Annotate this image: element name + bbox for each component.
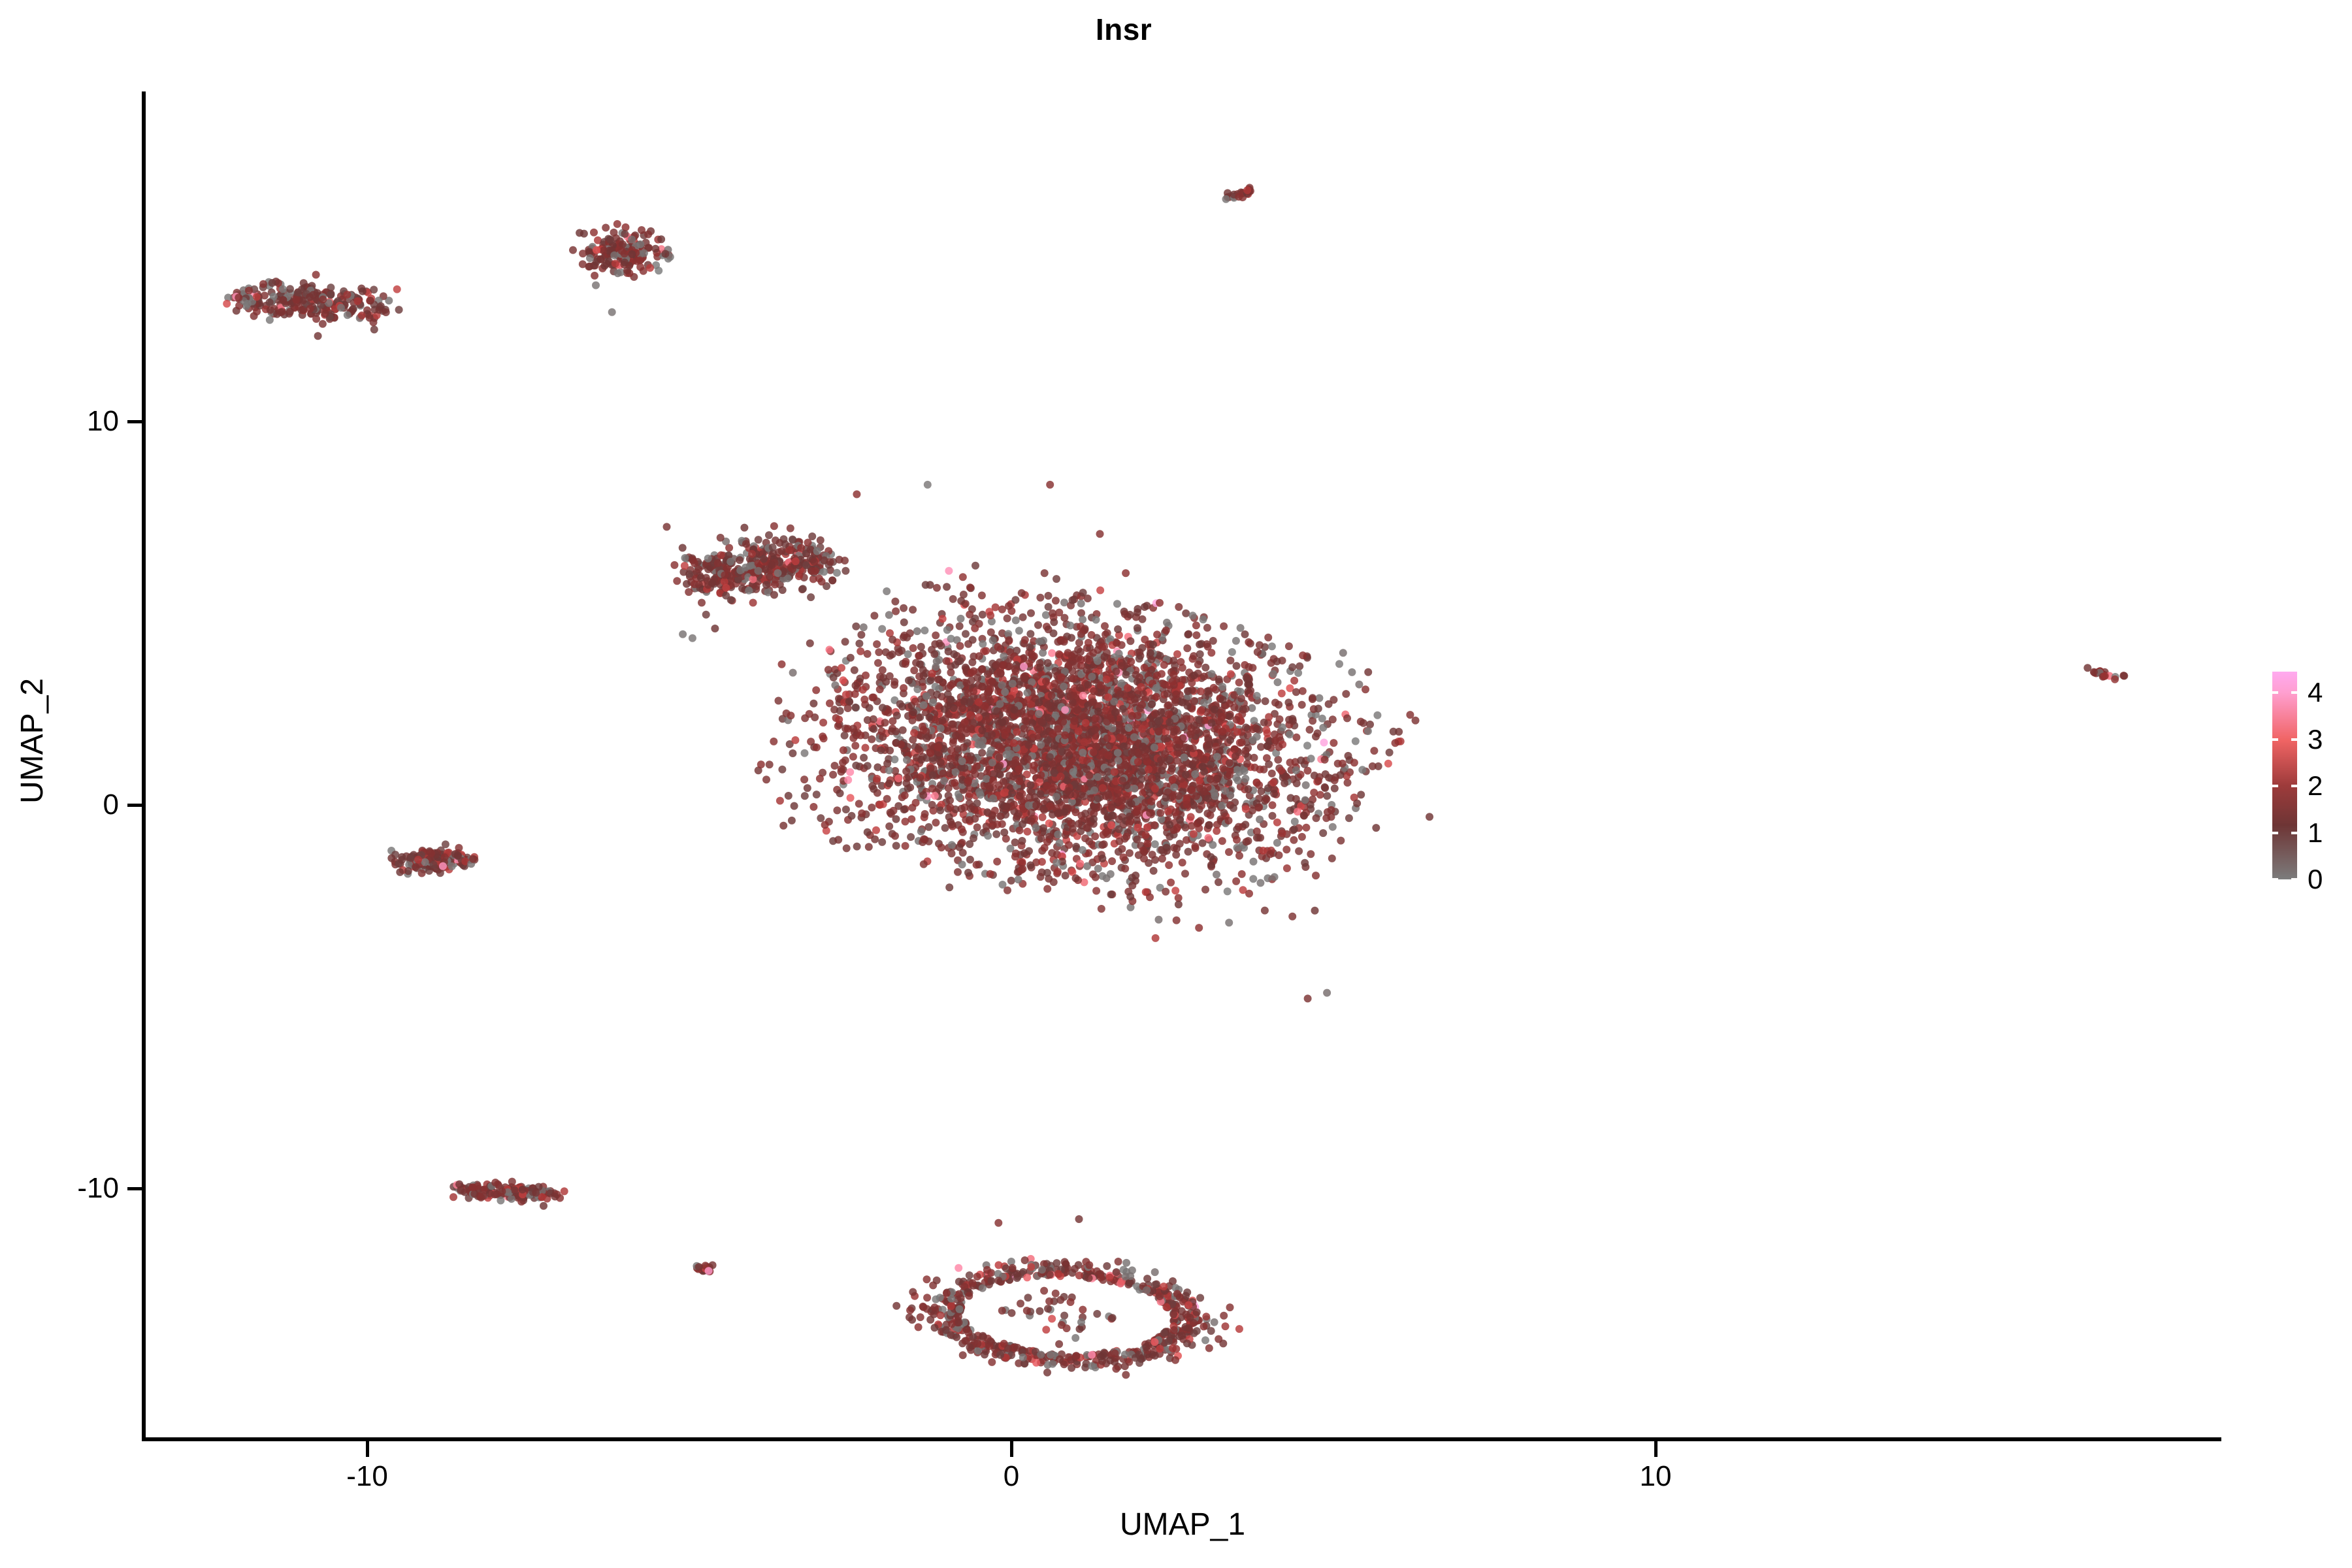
colorbar-tick-mark — [2291, 878, 2297, 881]
page-title: Insr — [0, 14, 2247, 44]
colorbar-label: 1 — [2308, 819, 2323, 847]
x-tick-label: 0 — [1004, 1462, 1019, 1491]
colorbar-tick-mark — [2291, 785, 2297, 787]
colorbar-tick-mark — [2272, 832, 2278, 834]
x-tick-mark — [1654, 1441, 1658, 1457]
colorbar-tick-mark — [2272, 738, 2278, 741]
y-tick-mark — [127, 804, 142, 807]
x-axis-spine — [144, 1437, 2221, 1441]
colorbar-label: 4 — [2308, 679, 2323, 706]
colorbar-tick-mark — [2291, 832, 2297, 834]
x-tick-label: -10 — [346, 1462, 388, 1491]
plot-panel — [144, 91, 2221, 1439]
y-tick-label: -10 — [77, 1174, 119, 1203]
colorbar-tick-mark — [2272, 691, 2278, 694]
colorbar-tick-mark — [2272, 878, 2278, 881]
colorbar-label: 2 — [2308, 772, 2323, 800]
x-tick-label: 10 — [1640, 1462, 1672, 1491]
colorbar-tick-mark — [2272, 785, 2278, 787]
x-tick-mark — [1010, 1441, 1013, 1457]
colorbar-label: 3 — [2308, 726, 2323, 753]
y-axis-spine — [142, 91, 146, 1441]
umap-feature-plot: Insr 100-10 -10010 UMAP_1 UMAP_2 43210 — [0, 0, 2352, 1568]
scatter-points-layer — [144, 91, 2221, 1439]
colorbar-tick-mark — [2291, 738, 2297, 741]
x-axis-title: UMAP_1 — [144, 1509, 2221, 1541]
y-axis-title: UMAP_2 — [17, 414, 48, 1068]
colorbar-tick-mark — [2291, 691, 2297, 694]
y-tick-label: 10 — [87, 407, 119, 436]
y-tick-mark — [127, 1187, 142, 1190]
x-tick-mark — [366, 1441, 369, 1457]
color-legend: 43210 — [2272, 672, 2344, 881]
colorbar-gradient — [2272, 672, 2297, 879]
y-tick-mark — [127, 420, 142, 423]
y-tick-label: 0 — [103, 791, 119, 819]
colorbar-label: 0 — [2308, 866, 2323, 893]
